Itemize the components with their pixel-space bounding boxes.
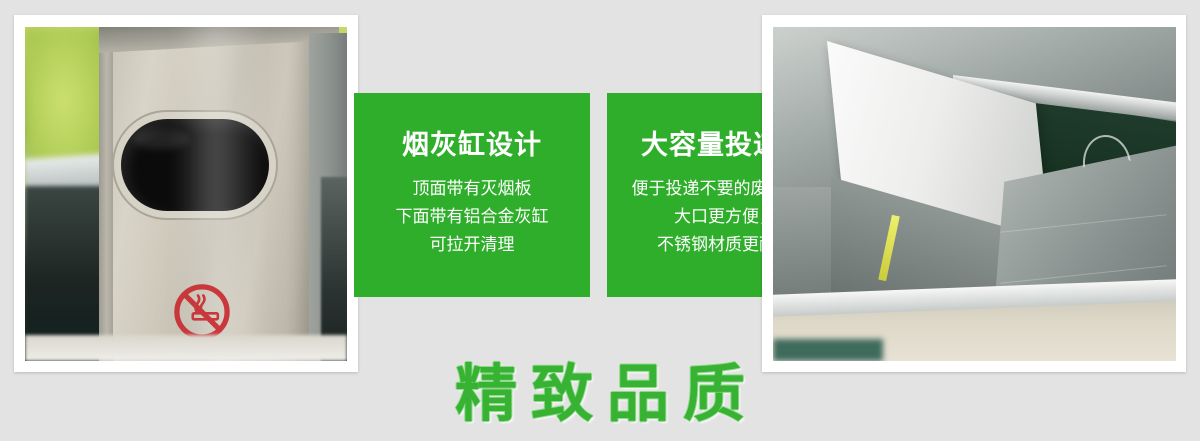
liner-seam (1001, 214, 1167, 232)
photo-scene-right (773, 27, 1176, 361)
right-photo-frame (762, 15, 1186, 372)
feature-card-ashtray: 烟灰缸设计 顶面带有灭烟板 下面带有铝合金灰缸 可拉开清理 (354, 93, 590, 297)
bin-large-opening-interior-photo (773, 27, 1176, 361)
photo-scene-left (25, 27, 347, 361)
feature-line: 下面带有铝合金灰缸 (354, 203, 590, 231)
feature-card-ashtray-lines: 顶面带有灭烟板 下面带有铝合金灰缸 可拉开清理 (354, 175, 590, 259)
feature-line: 顶面带有灭烟板 (354, 175, 590, 203)
bin-left-edge (99, 27, 113, 361)
feature-card-ashtray-title: 烟灰缸设计 (402, 131, 542, 161)
promo-banner: 烟灰缸设计 顶面带有灭烟板 下面带有铝合金灰缸 可拉开清理 大容量投递口 便于投… (0, 0, 1200, 441)
feature-line: 可拉开清理 (354, 231, 590, 259)
bin-side-shadow (321, 177, 347, 361)
left-photo-frame (14, 15, 358, 372)
ashtray-oval-opening (121, 119, 269, 211)
banner-headline: 精致品质 (0, 356, 1200, 434)
stainless-steel-bin-ashtray-photo (25, 27, 347, 361)
